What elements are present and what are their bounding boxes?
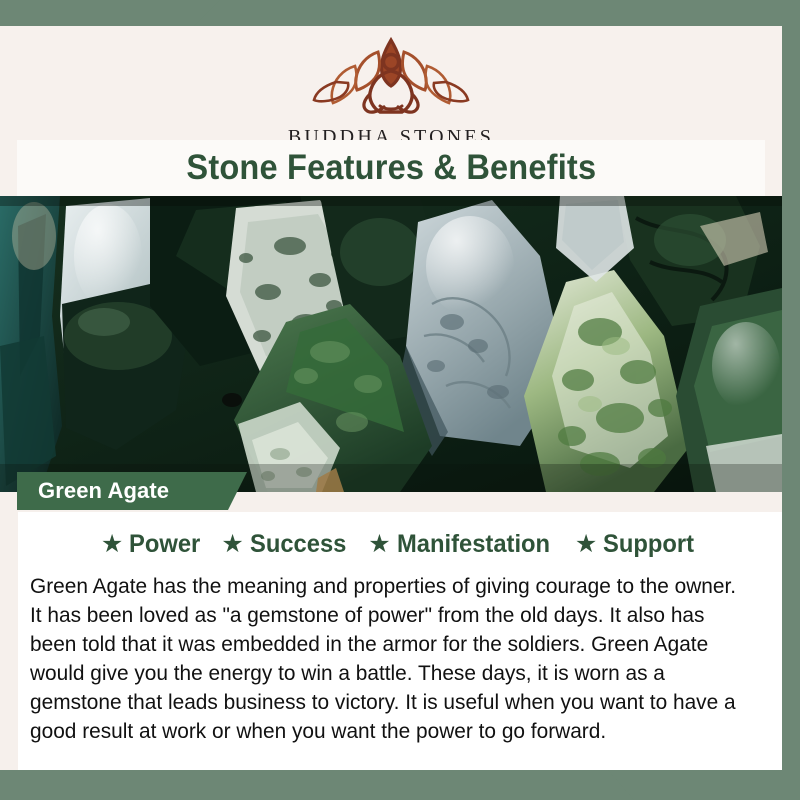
star-icon: ★	[221, 532, 243, 557]
feature-item-support: ★ Support	[575, 530, 699, 559]
decorative-right-border	[782, 0, 800, 800]
feature-label: Power	[129, 530, 200, 559]
title-band: Stone Features & Benefits	[17, 140, 765, 196]
description-text: Green Agate has the meaning and properti…	[30, 572, 748, 746]
feature-item-success: ★ Success	[221, 530, 351, 559]
feature-label: Manifestation	[397, 530, 550, 559]
star-icon: ★	[101, 532, 123, 557]
lotus-meditation-figure-icon	[308, 30, 474, 122]
brand-logo: BUDDHA STONES	[0, 30, 782, 149]
feature-label: Support	[603, 530, 694, 559]
stone-name-label: Green Agate	[38, 478, 169, 504]
status-badge: Green Agate	[17, 472, 247, 510]
page-title: Stone Features & Benefits	[186, 148, 596, 188]
decorative-top-corner-shape	[0, 0, 800, 26]
poster-card: BUDDHA STONES Stone Features & Benefits	[0, 26, 782, 770]
feature-list: ★ Power ★ Success ★ Manifestation ★ Supp…	[18, 520, 782, 568]
feature-item-power: ★ Power	[101, 530, 204, 559]
feature-item-manifestation: ★ Manifestation	[368, 530, 558, 559]
stone-info-poster: BUDDHA STONES Stone Features & Benefits	[0, 0, 800, 800]
star-icon: ★	[575, 532, 597, 557]
decorative-bottom-corner-shape	[0, 770, 800, 800]
description-panel: ★ Power ★ Success ★ Manifestation ★ Supp…	[18, 512, 782, 770]
star-icon: ★	[368, 532, 390, 557]
green-agate-tumbled-stones-photo	[0, 196, 782, 492]
feature-label: Success	[250, 530, 346, 559]
